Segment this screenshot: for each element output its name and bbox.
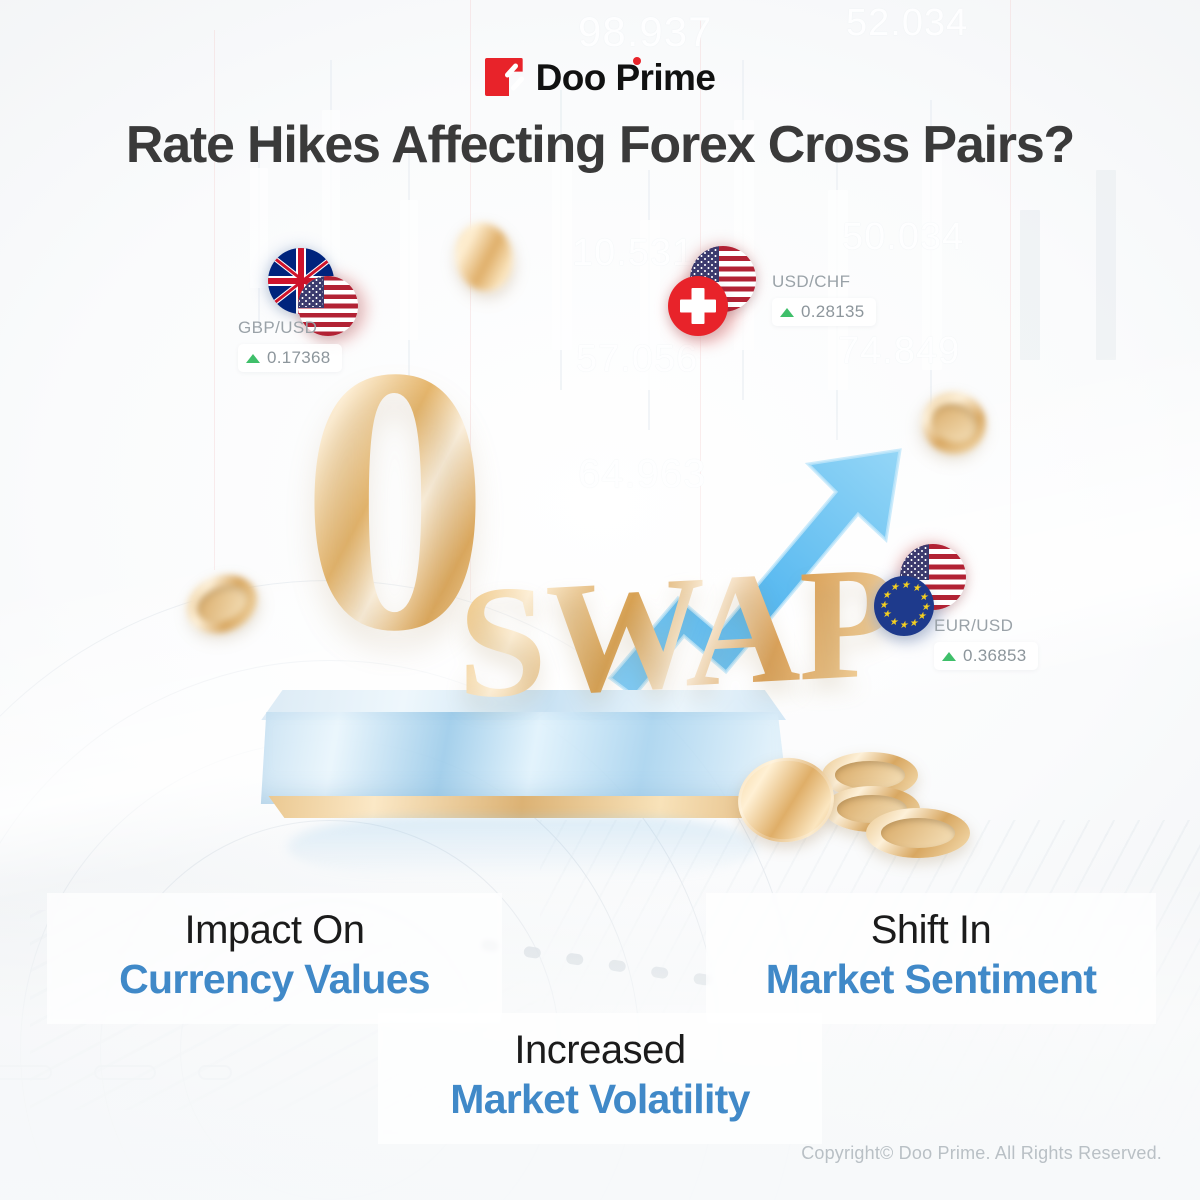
pair-info: EUR/USD 0.36853 [934, 616, 1038, 670]
card-bottom-label: Market Sentiment [734, 954, 1128, 1004]
pair-change-chip: 0.36853 [934, 642, 1038, 670]
ch-flag-icon [668, 276, 728, 336]
pair-value: 0.28135 [801, 302, 865, 322]
pair-name: USD/CHF [772, 272, 876, 292]
poster-canvas: 98.937 52.034 10.531 50.034 57.056 74.84… [0, 0, 1200, 1200]
eu-flag-icon: ★★ ★★ ★★ ★★ ★★ ★★ [874, 576, 934, 636]
pair-info: USD/CHF 0.28135 [772, 272, 876, 326]
callout-card-market-sentiment[interactable]: Shift In Market Sentiment [706, 893, 1156, 1024]
triangle-up-icon [942, 652, 956, 661]
card-top-label: Impact On [75, 907, 474, 954]
logo-dot-icon [633, 57, 641, 65]
pair-name: EUR/USD [934, 616, 1038, 636]
card-top-label: Increased [406, 1027, 794, 1074]
pair-value: 0.36853 [963, 646, 1027, 666]
currency-pair-gbp-usd[interactable]: GBP/USD 0.17368 [262, 244, 348, 330]
page-title: Rate Hikes Affecting Forex Cross Pairs? [0, 118, 1200, 173]
triangle-up-icon [246, 354, 260, 363]
brand-name: Doo Prime [536, 59, 716, 96]
callout-card-currency-values[interactable]: Impact On Currency Values [47, 893, 502, 1024]
pair-value: 0.17368 [267, 348, 331, 368]
brand-name-text: Doo Prime [536, 57, 716, 98]
triangle-up-icon [780, 308, 794, 317]
currency-pair-eur-usd[interactable]: ★★ ★★ ★★ ★★ ★★ ★★ EUR/USD 0.36853 [872, 540, 958, 626]
doo-prime-mark-icon [485, 58, 523, 96]
pair-change-chip: 0.28135 [772, 298, 876, 326]
card-bottom-label: Currency Values [75, 954, 474, 1004]
brand-logo: Doo Prime [0, 58, 1200, 96]
pair-flags: ★★ ★★ ★★ ★★ ★★ ★★ [872, 540, 958, 626]
pair-info: GBP/USD 0.17368 [238, 318, 342, 372]
pair-change-chip: 0.17368 [238, 344, 342, 372]
pair-name: GBP/USD [238, 318, 342, 338]
copyright-notice: Copyright© Doo Prime. All Rights Reserve… [801, 1143, 1162, 1164]
callout-card-market-volatility[interactable]: Increased Market Volatility [378, 1013, 822, 1144]
currency-pair-usd-chf[interactable]: USD/CHF 0.28135 [668, 244, 754, 330]
pair-flags [668, 244, 754, 330]
card-top-label: Shift In [734, 907, 1128, 954]
card-bottom-label: Market Volatility [406, 1074, 794, 1124]
